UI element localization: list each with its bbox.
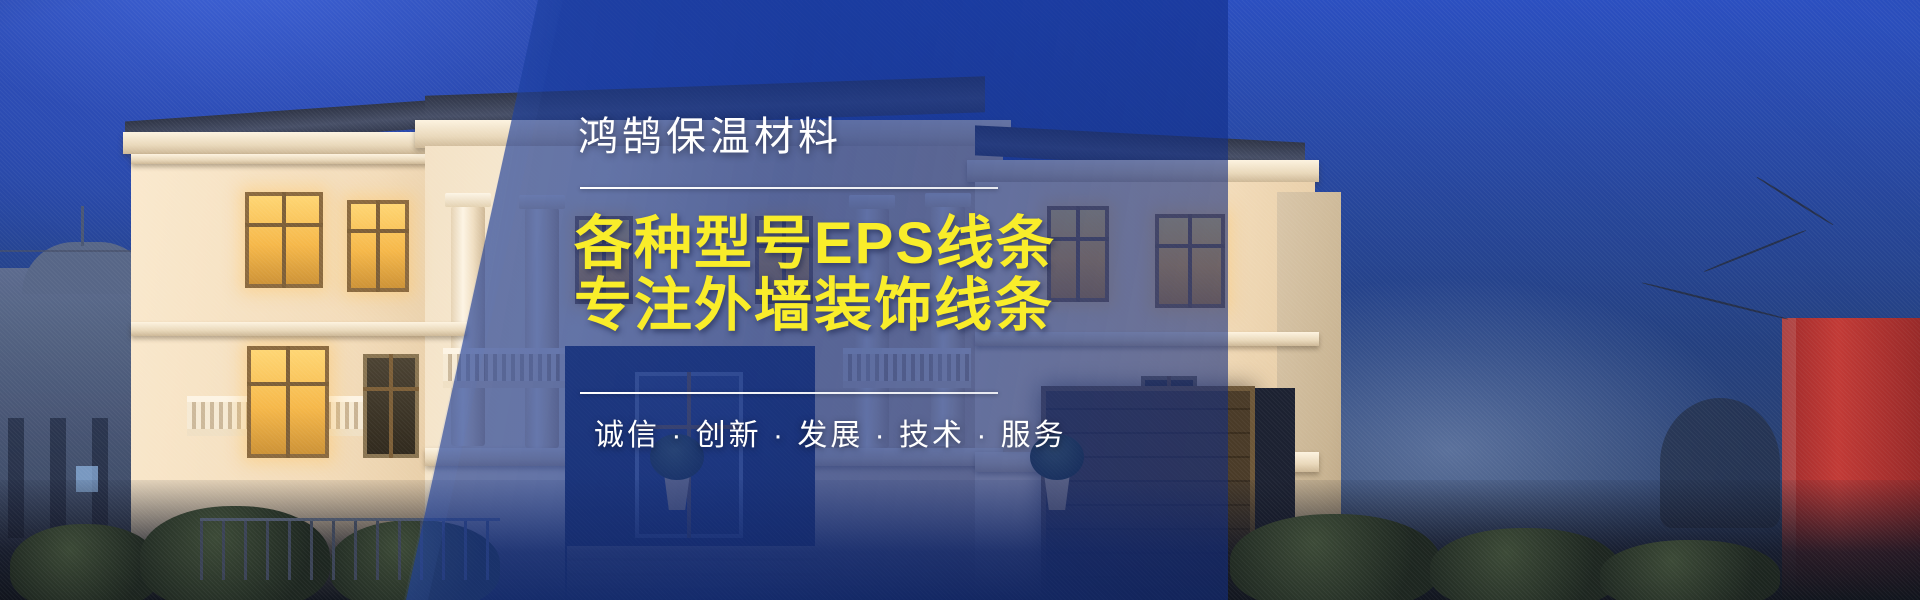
tagline: 诚信 · 创新 · 发展 · 技术 · 服务 [594, 410, 1067, 454]
divider-bottom [580, 392, 998, 394]
headline-line-2: 专注外墙装饰线条 [574, 258, 1054, 342]
hero-banner: 鸿鹄保温材料 各种型号EPS线条 专注外墙装饰线条 诚信 · 创新 · 发展 ·… [0, 0, 1920, 600]
brand-eyebrow: 鸿鹄保温材料 [578, 104, 842, 162]
banner-copy: 鸿鹄保温材料 各种型号EPS线条 专注外墙装饰线条 诚信 · 创新 · 发展 ·… [560, 0, 1200, 600]
divider-top [580, 187, 998, 189]
